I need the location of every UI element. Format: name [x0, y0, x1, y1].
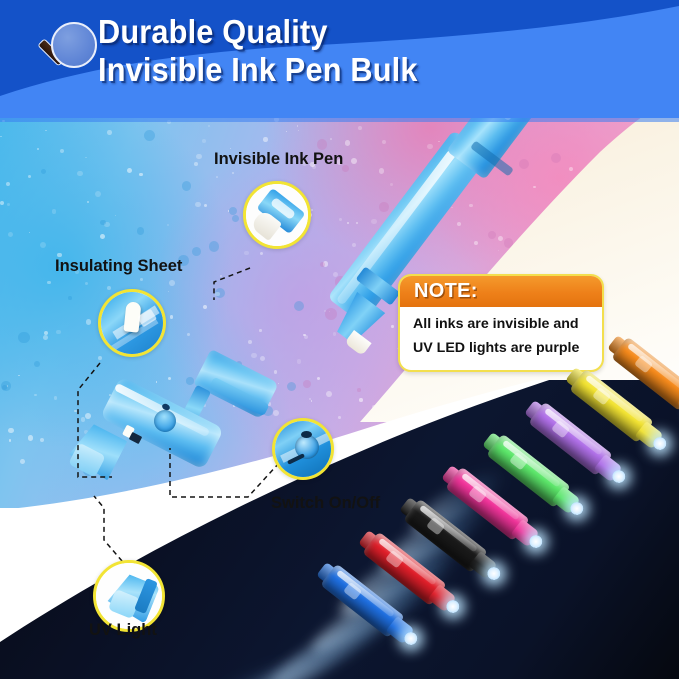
- callout-circle-invisible-ink-pen[interactable]: [243, 181, 311, 249]
- magnifier-lens: [51, 22, 97, 68]
- note-box: NOTE: All inks are invisible and UV LED …: [398, 274, 604, 372]
- callout-label-uv-light: UV Light: [89, 621, 157, 640]
- callout-label-insulating-sheet: Insulating Sheet: [55, 257, 182, 276]
- note-line-1: All inks are invisible and: [413, 315, 602, 334]
- callout-circle-insulating-sheet[interactable]: [98, 289, 166, 357]
- uv-light-pen: [58, 352, 288, 512]
- title-line-1: Durable Quality: [98, 13, 328, 50]
- callout-circle-switch-on-off[interactable]: [272, 418, 334, 480]
- note-body: All inks are invisible and UV LED lights…: [400, 307, 602, 358]
- note-line-2: UV LED lights are purple: [413, 339, 602, 358]
- product-infographic: Invisible Ink Pen Insulating Sheet Switc…: [0, 0, 679, 679]
- note-heading: NOTE:: [414, 280, 478, 303]
- callout-label-switch-on-off: Switch On/Off: [271, 494, 380, 513]
- callout-label-invisible-ink-pen: Invisible Ink Pen: [214, 150, 343, 169]
- magnifier-icon: [29, 22, 101, 94]
- note-header: NOTE:: [400, 276, 602, 307]
- page-title: Durable Quality Invisible Ink Pen Bulk: [98, 13, 619, 89]
- title-line-2: Invisible Ink Pen Bulk: [98, 51, 619, 89]
